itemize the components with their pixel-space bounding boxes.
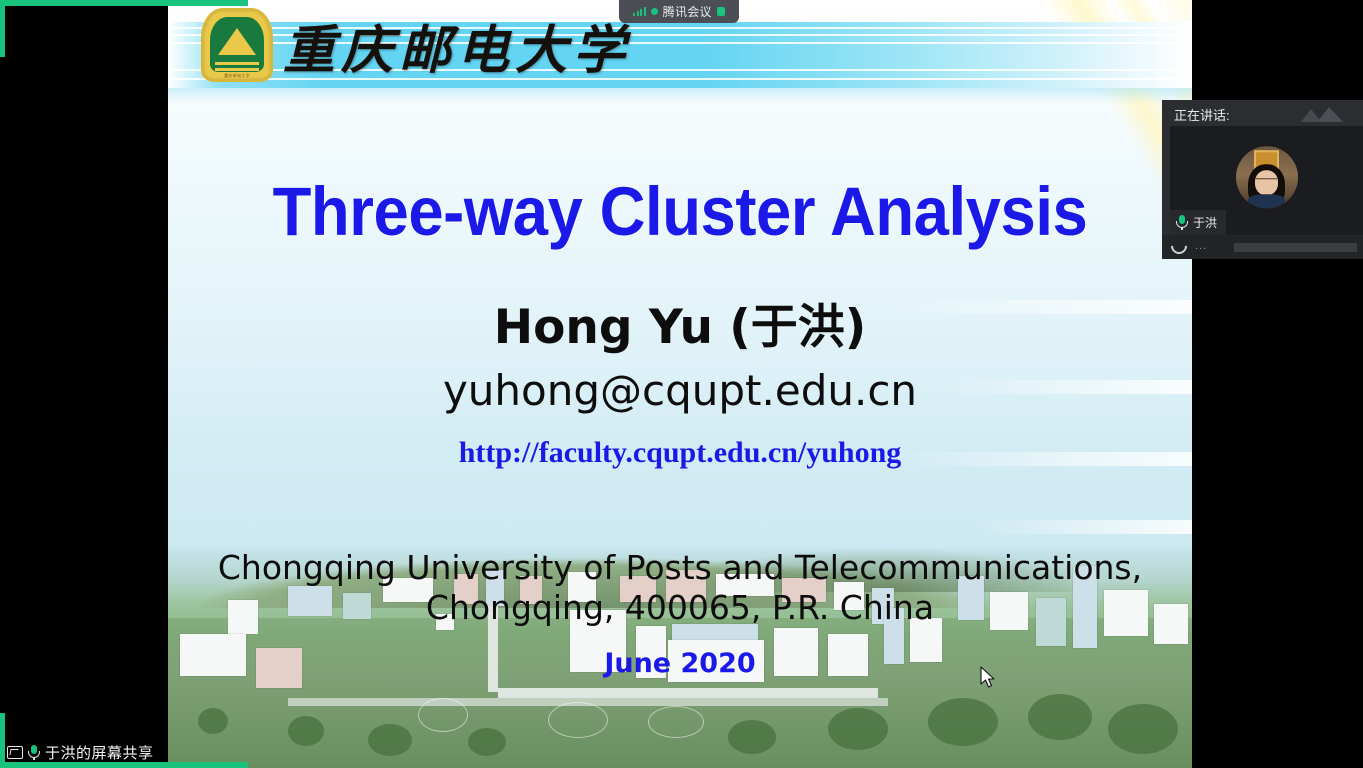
panel-header: 正在讲话: [1162,100,1363,126]
screen-share-border-left-top [0,0,5,57]
cqupt-crest-icon: 重庆邮电大学 [201,8,273,82]
meeting-control-strip[interactable]: ... [1162,235,1363,259]
participant-avatar [1236,146,1298,208]
meeting-status-pill[interactable]: 腾讯会议 [619,0,739,23]
video-tile[interactable]: 于洪 [1170,126,1363,235]
mouse-pointer-icon [980,666,998,690]
screen-share-status-text: 于洪的屏幕共享 [45,742,154,763]
tencent-meeting-logo-icon [1291,104,1353,124]
mic-on-icon [1176,215,1188,230]
active-speaker-panel[interactable]: 正在讲话: 于洪 [1162,100,1363,235]
screen-share-view: 重庆邮电大学 重庆邮电大学 [0,0,1363,768]
meeting-app-label: 腾讯会议 [663,3,712,20]
affiliation-line-1: Chongqing University of Posts and Teleco… [168,548,1192,588]
screen-share-icon [7,746,23,759]
slide-date: June 2020 [168,648,1192,679]
control-strip-bar [1234,243,1357,252]
control-strip-text: ... [1195,240,1207,252]
banner-fade [168,88,1192,104]
slide-affiliation: Chongqing University of Posts and Teleco… [168,548,1192,629]
decorative-stripe [972,520,1192,534]
phone-hangup-icon[interactable] [1168,235,1191,258]
mic-on-icon[interactable] [28,745,40,760]
slide-title: Three-way Cluster Analysis [209,172,1151,251]
crest-micro-text: 重庆邮电大学 [201,73,273,79]
university-name-calligraphy: 重庆邮电大学 [283,14,631,76]
slide-email: yuhong@cqupt.edu.cn [168,366,1192,415]
screen-share-status-bar[interactable]: 于洪的屏幕共享 [5,742,248,763]
speaking-label: 正在讲话: [1174,105,1230,124]
signal-bars-icon [633,7,646,16]
participant-nametag: 于洪 [1170,210,1226,235]
affiliation-line-2: Chongqing, 400065, P.R. China [168,588,1192,628]
presentation-slide: 重庆邮电大学 重庆邮电大学 [168,0,1192,768]
screen-share-border-top [0,0,248,6]
status-dot-icon [651,8,658,15]
mic-icon[interactable] [717,7,725,16]
slide-author: Hong Yu (于洪) [168,288,1192,357]
participant-name: 于洪 [1193,214,1217,231]
slide-homepage-link[interactable]: http://faculty.cqupt.edu.cn/yuhong [168,436,1192,470]
